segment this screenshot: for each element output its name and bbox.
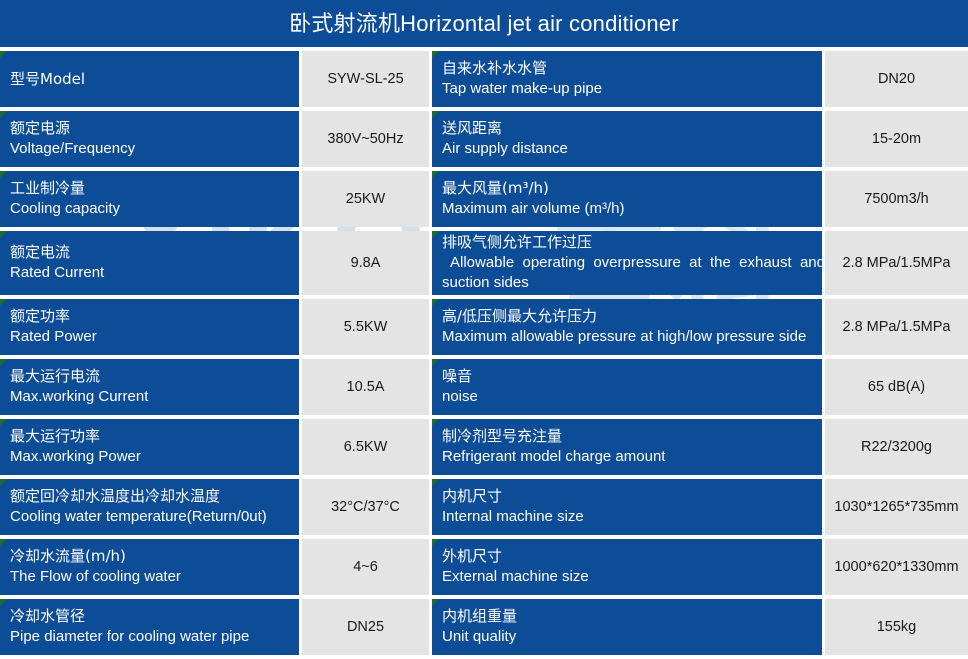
spec-label-cn: 型号Model [10,69,299,90]
spec-label-en: Allowable operating overpressure at the … [442,253,825,294]
spec-value-air-supply-distance: 15-20m [825,111,968,167]
spec-value-cooling-water-pipe-diameter: DN25 [302,599,429,655]
spec-label-external-machine-size: 外机尺寸 External machine size [432,539,822,595]
spec-label-noise: 噪音 noise [432,359,822,415]
spec-label-en: noise [442,387,822,408]
spec-label-en: Cooling capacity [10,199,299,220]
spec-label-cn: 冷却水流量(m/h) [10,546,299,567]
spec-label-cn: 内机组重量 [442,606,822,627]
spec-value-max-working-power: 6.5KW [302,419,429,475]
spec-label-rated-power: 额定功率 Rated Power [0,299,299,355]
spec-label-model: 型号Model [0,51,299,107]
spec-label-cn: 送风距离 [442,118,822,139]
spec-label-max-working-current: 最大运行电流 Max.working Current [0,359,299,415]
spec-label-en: Air supply distance [442,139,822,160]
spec-label-en: Tap water make-up pipe [442,79,822,100]
spec-value-max-working-current: 10.5A [302,359,429,415]
spec-value-cooling-water-temperature: 32°C/37°C [302,479,429,535]
table-row: 冷却水管径 Pipe diameter for cooling water pi… [0,599,968,655]
spec-label-en: Unit quality [442,627,822,648]
spec-label-cn: 额定电流 [10,242,299,263]
table-row: 额定电流 Rated Current 9.8A 排吸气侧允许工作过压 Allow… [0,231,968,295]
spec-value-rated-current: 9.8A [302,231,429,295]
page-title: 卧式射流机Horizontal jet air conditioner [289,13,679,35]
table-row: 工业制冷量 Cooling capacity 25KW 最大风量(m³/h) M… [0,171,968,227]
table-row: 型号Model SYW-SL-25 自来水补水水管 Tap water make… [0,51,968,107]
spec-value-refrigerant-charge: R22/3200g [825,419,968,475]
spec-label-en: Refrigerant model charge amount [442,447,822,468]
spec-label-cn: 排吸气侧允许工作过压 [442,232,822,253]
table-row: 额定电源 Voltage/Frequency 380V~50Hz 送风距离 Ai… [0,111,968,167]
spec-label-cn: 外机尺寸 [442,546,822,567]
spec-label-en: Rated Current [10,263,299,284]
spec-label-cn: 工业制冷量 [10,178,299,199]
spec-label-cn: 额定回冷却水温度出冷却水温度 [10,486,299,507]
spec-grid: 型号Model SYW-SL-25 自来水补水水管 Tap water make… [0,51,968,659]
spec-label-tap-water-pipe: 自来水补水水管 Tap water make-up pipe [432,51,822,107]
spec-label-cn: 冷却水管径 [10,606,299,627]
spec-label-cn: 高/低压侧最大允许压力 [442,306,822,327]
spec-value-rated-power: 5.5KW [302,299,429,355]
spec-value-unit-quality: 155kg [825,599,968,655]
spec-value-cooling-capacity: 25KW [302,171,429,227]
spec-label-cn: 内机尺寸 [442,486,822,507]
table-row: 最大运行功率 Max.working Power 6.5KW 制冷剂型号充注量 … [0,419,968,475]
spec-label-voltage-frequency: 额定电源 Voltage/Frequency [0,111,299,167]
spec-label-cooling-water-pipe-diameter: 冷却水管径 Pipe diameter for cooling water pi… [0,599,299,655]
spec-value-noise: 65 dB(A) [825,359,968,415]
spec-label-en: Maximum air volume (m³/h) [442,199,822,220]
spec-label-cn: 额定电源 [10,118,299,139]
table-row: 额定功率 Rated Power 5.5KW 高/低压侧最大允许压力 Maxim… [0,299,968,355]
table-row: 冷却水流量(m/h) The Flow of cooling water 4~6… [0,539,968,595]
spec-label-rated-current: 额定电流 Rated Current [0,231,299,295]
spec-label-cn: 最大运行电流 [10,366,299,387]
spec-label-en: Max.working Power [10,447,299,468]
spec-value-max-air-volume: 7500m3/h [825,171,968,227]
specification-table: XIKO 喜科 卧式射流机Horizontal jet air conditio… [0,0,968,639]
spec-value-external-machine-size: 1000*620*1330mm [825,539,968,595]
spec-label-allowable-overpressure: 排吸气侧允许工作过压 Allowable operating overpress… [432,231,822,295]
spec-label-max-working-power: 最大运行功率 Max.working Power [0,419,299,475]
spec-label-max-allowable-pressure: 高/低压侧最大允许压力 Maximum allowable pressure a… [432,299,822,355]
spec-label-en: Pipe diameter for cooling water pipe [10,627,299,648]
spec-label-cooling-capacity: 工业制冷量 Cooling capacity [0,171,299,227]
spec-value-max-allowable-pressure: 2.8 MPa/1.5MPa [825,299,968,355]
spec-label-en: Rated Power [10,327,299,348]
spec-label-cn: 自来水补水水管 [442,58,822,79]
table-row: 额定回冷却水温度出冷却水温度 Cooling water temperature… [0,479,968,535]
spec-value-model: SYW-SL-25 [302,51,429,107]
spec-label-en: The Flow of cooling water [10,567,299,588]
spec-label-en: Internal machine size [442,507,822,528]
spec-label-en: Voltage/Frequency [10,139,299,160]
spec-label-en: Cooling water temperature(Return/0ut) [10,507,299,528]
spec-label-internal-machine-size: 内机尺寸 Internal machine size [432,479,822,535]
table-title-bar: 卧式射流机Horizontal jet air conditioner [0,0,968,47]
spec-label-en: Max.working Current [10,387,299,408]
spec-value-tap-water-pipe: DN20 [825,51,968,107]
spec-value-cooling-water-flow: 4~6 [302,539,429,595]
spec-label-refrigerant-charge: 制冷剂型号充注量 Refrigerant model charge amount [432,419,822,475]
spec-label-en: External machine size [442,567,822,588]
spec-label-cooling-water-flow: 冷却水流量(m/h) The Flow of cooling water [0,539,299,595]
spec-label-cooling-water-temperature: 额定回冷却水温度出冷却水温度 Cooling water temperature… [0,479,299,535]
spec-label-cn: 噪音 [442,366,822,387]
spec-label-cn: 最大风量(m³/h) [442,178,822,199]
spec-value-allowable-overpressure: 2.8 MPa/1.5MPa [825,231,968,295]
spec-value-voltage-frequency: 380V~50Hz [302,111,429,167]
spec-label-unit-quality: 内机组重量 Unit quality [432,599,822,655]
spec-label-cn: 制冷剂型号充注量 [442,426,822,447]
spec-label-air-supply-distance: 送风距离 Air supply distance [432,111,822,167]
spec-label-en: Maximum allowable pressure at high/low p… [442,327,822,348]
spec-value-internal-machine-size: 1030*1265*735mm [825,479,968,535]
table-row: 最大运行电流 Max.working Current 10.5A 噪音 nois… [0,359,968,415]
spec-label-cn: 额定功率 [10,306,299,327]
spec-label-cn: 最大运行功率 [10,426,299,447]
spec-label-max-air-volume: 最大风量(m³/h) Maximum air volume (m³/h) [432,171,822,227]
